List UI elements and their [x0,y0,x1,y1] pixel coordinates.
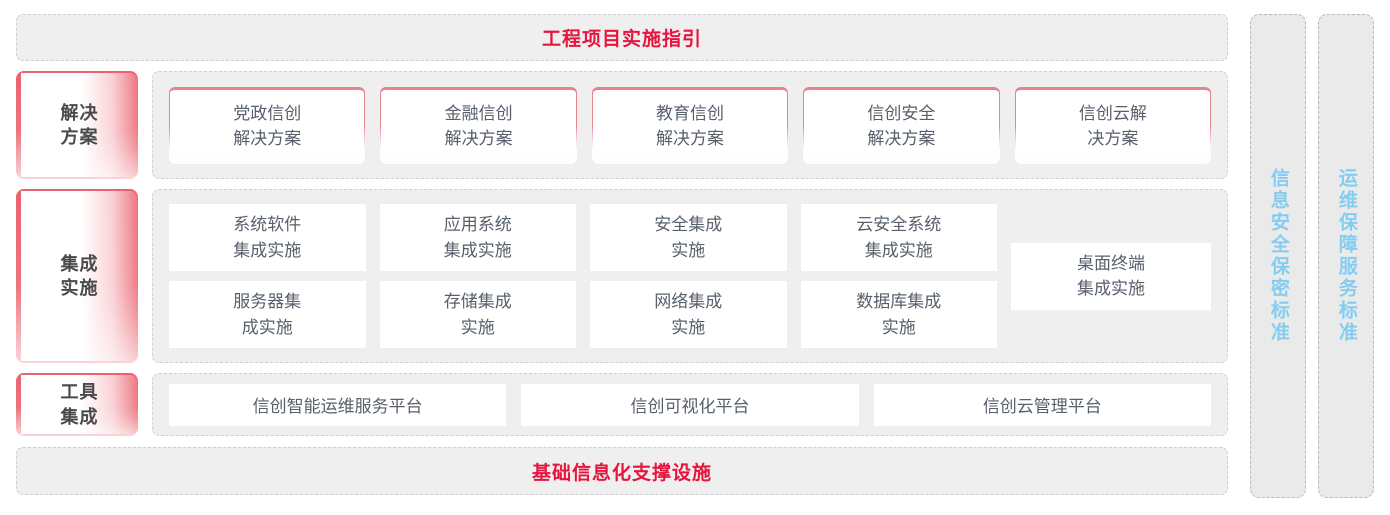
solution-card[interactable]: 金融信创 解决方案 [380,87,576,164]
tool-card-row: 信创智能运维服务平台 信创可视化平台 信创云管理平台 [153,384,1227,426]
panel-solutions: 党政信创 解决方案 金融信创 解决方案 教育信创 解决方案 信创安全 解决方案 … [152,71,1228,179]
solution-card-label: 党政信创 解决方案 [233,101,301,152]
integration-card[interactable]: 安全集成 实施 [590,204,787,271]
side-column-ops-standard[interactable]: 运维保障服务标准 [1318,14,1374,498]
tool-card[interactable]: 信创云管理平台 [874,384,1211,426]
solution-card[interactable]: 党政信创 解决方案 [169,87,365,164]
integration-card-label: 桌面终端 集成实施 [1077,251,1145,302]
integration-card[interactable]: 存储集成 实施 [380,281,577,348]
integration-card-desktop-terminal[interactable]: 桌面终端 集成实施 [1011,243,1211,310]
category-label-solutions: 解决 方案 [16,71,138,179]
category-label-solutions-inner: 解决 方案 [21,73,138,177]
integration-card-label: 数据库集成 实施 [856,289,941,340]
integration-content: 系统软件 集成实施 应用系统 集成实施 安全集成 实施 云安全系统 集成实施 服 [153,204,1227,348]
solution-card[interactable]: 信创云解 决方案 [1015,87,1211,164]
solution-card-label: 信创安全 解决方案 [867,101,935,152]
page-title: 工程项目实施指引 [542,24,702,51]
integration-card[interactable]: 应用系统 集成实施 [380,204,577,271]
band-tools: 工具 集成 信创智能运维服务平台 信创可视化平台 信创云管理平台 [16,373,1228,436]
integration-card-label: 系统软件 集成实施 [233,212,301,263]
integration-card-grid: 系统软件 集成实施 应用系统 集成实施 安全集成 实施 云安全系统 集成实施 服 [169,204,997,348]
integration-card[interactable]: 服务器集 成实施 [169,281,366,348]
solution-card[interactable]: 信创安全 解决方案 [803,87,999,164]
integration-card-label: 服务器集 成实施 [233,289,301,340]
integration-card-label: 网络集成 实施 [654,289,722,340]
integration-card-label: 存储集成 实施 [444,289,512,340]
category-label-tools: 工具 集成 [16,373,138,436]
band-solutions: 解决 方案 党政信创 解决方案 金融信创 解决方案 教育信创 解决方案 信创安全… [16,71,1228,179]
integration-card[interactable]: 系统软件 集成实施 [169,204,366,271]
tool-card-label: 信创云管理平台 [983,392,1102,417]
panel-integration: 系统软件 集成实施 应用系统 集成实施 安全集成 实施 云安全系统 集成实施 服 [152,189,1228,363]
integration-card-label: 云安全系统 集成实施 [856,212,941,263]
main-column: 工程项目实施指引 解决 方案 党政信创 解决方案 金融信创 解决方案 [16,14,1228,498]
category-label-integration-text: 集成 实施 [61,252,99,301]
band-integration: 集成 实施 系统软件 集成实施 应用系统 集成实施 安全集成 实施 [16,189,1228,363]
category-label-tools-text: 工具 集成 [61,380,99,429]
side-columns: 信息安全保密标准 运维保障服务标准 [1250,14,1374,498]
tool-card-label: 信创智能运维服务平台 [253,392,423,417]
integration-card[interactable]: 网络集成 实施 [590,281,787,348]
integration-card-label: 安全集成 实施 [654,212,722,263]
tool-card-label: 信创可视化平台 [630,392,749,417]
footer-title: 基础信息化支撑设施 [532,458,712,485]
solution-card-label: 信创云解 决方案 [1079,101,1147,152]
category-label-tools-inner: 工具 集成 [21,375,138,434]
side-column-label: 运维保障服务标准 [1333,168,1359,344]
header-title-bar: 工程项目实施指引 [16,14,1228,61]
tool-card[interactable]: 信创可视化平台 [521,384,858,426]
category-label-solutions-text: 解决 方案 [61,101,99,150]
integration-card-label: 应用系统 集成实施 [444,212,512,263]
solution-card-label: 教育信创 解决方案 [656,101,724,152]
solution-card-row: 党政信创 解决方案 金融信创 解决方案 教育信创 解决方案 信创安全 解决方案 … [153,87,1227,164]
footer-title-bar: 基础信息化支撑设施 [16,447,1228,495]
category-label-integration-inner: 集成 实施 [21,191,138,361]
integration-card[interactable]: 数据库集成 实施 [801,281,998,348]
tool-card[interactable]: 信创智能运维服务平台 [169,384,506,426]
integration-card[interactable]: 云安全系统 集成实施 [801,204,998,271]
diagram-root: 工程项目实施指引 解决 方案 党政信创 解决方案 金融信创 解决方案 [0,0,1390,515]
side-column-security-standard[interactable]: 信息安全保密标准 [1250,14,1306,498]
category-label-integration: 集成 实施 [16,189,138,363]
solution-card-label: 金融信创 解决方案 [445,101,513,152]
solution-card[interactable]: 教育信创 解决方案 [592,87,788,164]
panel-tools: 信创智能运维服务平台 信创可视化平台 信创云管理平台 [152,373,1228,436]
side-column-label: 信息安全保密标准 [1265,168,1291,344]
